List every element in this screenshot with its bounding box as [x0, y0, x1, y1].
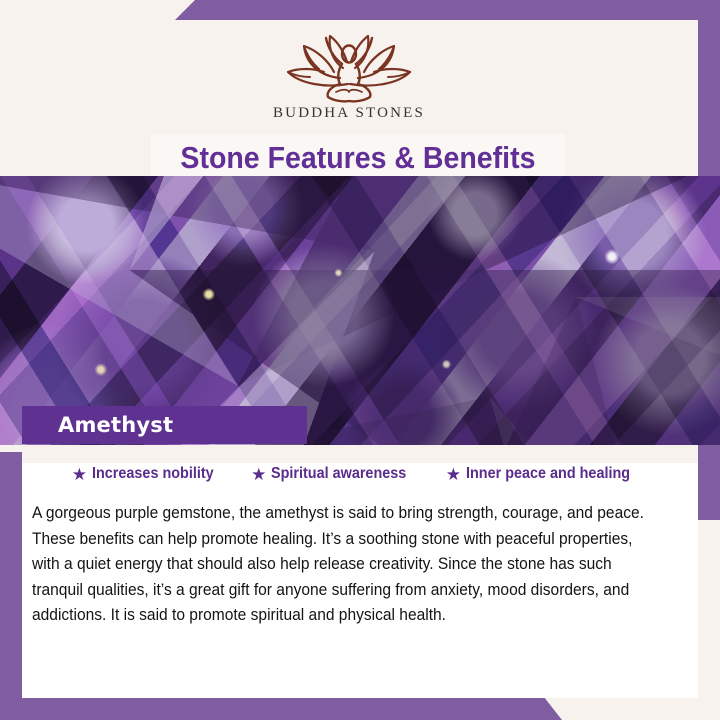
top-purple-accent-band — [0, 0, 720, 20]
brand-name: BUDDHA STONES — [0, 105, 698, 122]
left-purple-accent-band — [0, 452, 22, 720]
benefit-item-increases-nobility: ★ Increases nobility — [72, 465, 227, 483]
benefit-item-inner-peace-and-healing: ★ Inner peace and healing — [446, 465, 649, 483]
amethyst-crystal-cluster-photo — [0, 176, 720, 445]
star-icon: ★ — [446, 466, 461, 483]
stone-name-label: Amethyst — [58, 413, 173, 437]
benefit-item-spiritual-awareness: ★ Spiritual awareness — [251, 465, 422, 483]
stone-name-bar: Amethyst — [22, 406, 307, 444]
benefit-label: Increases nobility — [92, 465, 214, 483]
benefits-row: ★ Increases nobility ★ Spiritual awarene… — [22, 465, 698, 483]
card-top-tint-strip — [22, 445, 698, 463]
page-title: Stone Features & Benefits — [180, 140, 535, 176]
star-icon: ★ — [251, 466, 266, 483]
benefit-label: Spiritual awareness — [271, 465, 406, 483]
header: BUDDHA STONES Stone Features & Benefits — [0, 20, 698, 176]
star-icon: ★ — [72, 466, 87, 483]
content-card: ★ Increases nobility ★ Spiritual awarene… — [22, 445, 698, 698]
crystal-sparkle-layer — [0, 176, 720, 445]
title-banner: Stone Features & Benefits — [151, 134, 565, 182]
stone-description: A gorgeous purple gemstone, the amethyst… — [32, 501, 660, 629]
benefit-label: Inner peace and healing — [466, 465, 630, 483]
lotus-meditation-icon — [264, 28, 434, 104]
